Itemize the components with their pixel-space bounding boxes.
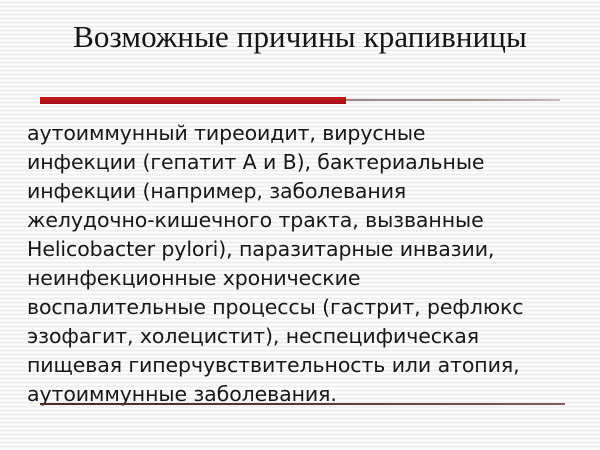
- body-line: воспалительные процессы (гастрит, рефлюк…: [27, 293, 563, 322]
- divider-tail-line: [346, 99, 560, 101]
- body-line: инфекции (например, заболевания: [27, 177, 563, 206]
- body-line: аутоиммунный тиреоидит, вирусные: [27, 119, 563, 148]
- body-line: эзофагит, холецистит), неспецифическая: [27, 322, 563, 351]
- slide-title: Возможные причины крапивницы: [0, 18, 600, 56]
- body-line: пищевая гиперчувствительность или атопия…: [27, 351, 563, 380]
- presentation-slide: Возможные причины крапивницы аутоиммунны…: [0, 0, 600, 450]
- body-line: неинфекционные хронические: [27, 264, 563, 293]
- body-line: желудочно-кишечного тракта, вызванные: [27, 206, 563, 235]
- body-line: инфекции (гепатит A и B), бактериальные: [27, 148, 563, 177]
- body-line: Helicobacter pylori), паразитарные инваз…: [27, 235, 563, 264]
- divider-accent-bar: [40, 97, 346, 104]
- title-divider: [40, 96, 560, 105]
- slide-body-text: аутоиммунный тиреоидит, вирусные инфекци…: [27, 119, 563, 409]
- bottom-rule: [40, 403, 565, 405]
